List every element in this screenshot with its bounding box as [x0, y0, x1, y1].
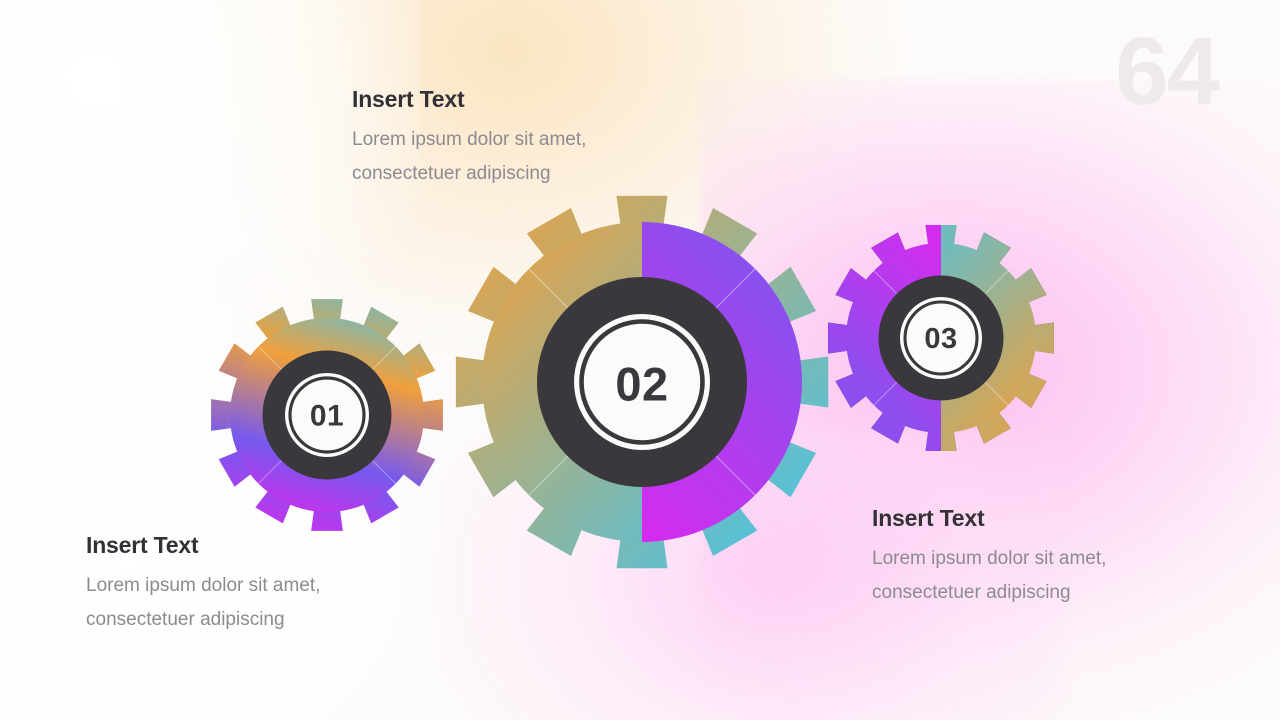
- text-block-left-body: Lorem ipsum dolor sit amet, consectetuer…: [86, 569, 386, 637]
- gear-svg-02: 02: [452, 192, 832, 572]
- text-block-left: Insert Text Lorem ipsum dolor sit amet, …: [86, 532, 386, 637]
- text-block-left-title: Insert Text: [86, 532, 386, 559]
- gear-svg-01: 01: [208, 296, 446, 534]
- gear-graphic-01[interactable]: 01: [208, 296, 446, 534]
- gear-body-02: 02: [456, 196, 829, 569]
- text-block-right-body: Lorem ipsum dolor sit amet, consectetuer…: [872, 542, 1172, 610]
- gear-number-03: 03: [924, 323, 957, 355]
- slide-number-watermark: 64: [1115, 24, 1218, 120]
- text-block-top: Insert Text Lorem ipsum dolor sit amet, …: [352, 86, 652, 191]
- gear-graphic-02[interactable]: 02: [452, 192, 832, 572]
- text-block-right: Insert Text Lorem ipsum dolor sit amet, …: [872, 505, 1172, 610]
- gear-number-01: 01: [310, 400, 344, 433]
- text-block-top-body: Lorem ipsum dolor sit amet, consectetuer…: [352, 123, 652, 191]
- gear-number-02: 02: [615, 358, 668, 411]
- slide-canvas: 64: [0, 0, 1280, 720]
- gear-svg-03: 03: [825, 222, 1057, 454]
- gear-body-01: 01: [211, 299, 443, 531]
- gear-graphic-03[interactable]: 03: [825, 222, 1057, 454]
- text-block-top-title: Insert Text: [352, 86, 652, 113]
- text-block-right-title: Insert Text: [872, 505, 1172, 532]
- gear-body-03: 03: [828, 225, 1054, 451]
